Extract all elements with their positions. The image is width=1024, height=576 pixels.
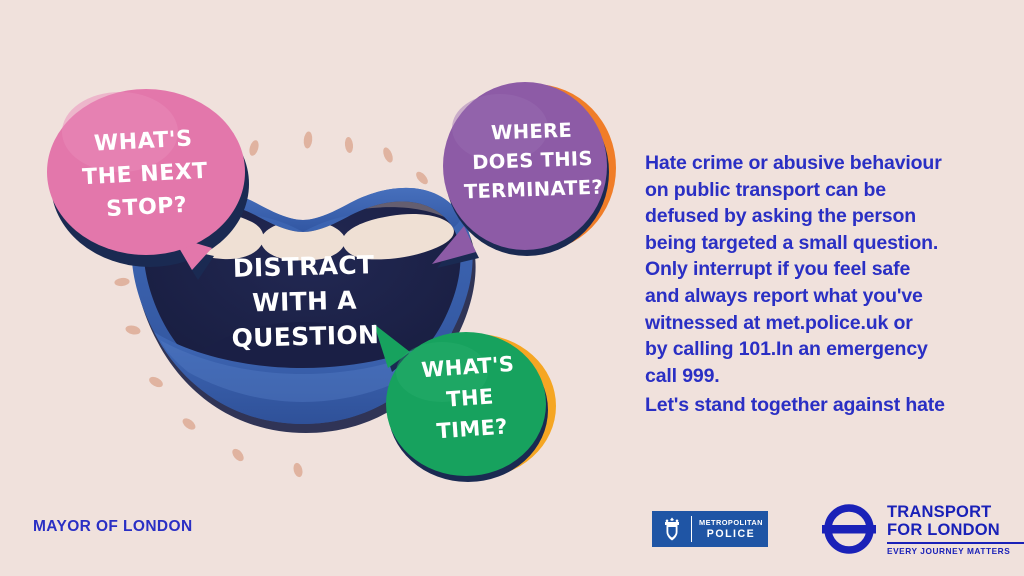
bubble-text-purple: WHERE DOES THIS TERMINATE? xyxy=(454,114,612,206)
tfl-wordmark: TRANSPORT FOR LONDON EVERY JOURNEY MATTE… xyxy=(887,503,1024,556)
tfl-roundel-icon xyxy=(820,503,878,555)
poster-canvas: WHAT'S THE NEXT STOP? WHERE DOES THIS TE… xyxy=(0,0,1024,576)
body-copy-tagline: Let's stand together against hate xyxy=(645,392,1005,419)
campaign-headline: DISTRACT WITH A QUESTION xyxy=(211,247,399,357)
tfl-line-1: TRANSPORT xyxy=(887,503,1024,521)
mayor-of-london-logo: MAYOR OF LONDON xyxy=(33,518,193,536)
met-crest-icon xyxy=(653,512,691,546)
body-copy-paragraph: Hate crime or abusive behaviour on publi… xyxy=(645,150,995,389)
tfl-line-2: FOR LONDON xyxy=(887,521,1024,539)
bubble-text-green: WHAT'S THE TIME? xyxy=(392,347,548,450)
met-line-1: METROPOLITAN xyxy=(699,518,763,527)
metropolitan-police-logo: METROPOLITAN POLICE xyxy=(652,511,768,547)
met-line-2: POLICE xyxy=(707,528,755,540)
tfl-rule xyxy=(887,542,1024,544)
met-wordmark: METROPOLITAN POLICE xyxy=(692,512,767,546)
tfl-strapline: EVERY JOURNEY MATTERS xyxy=(887,546,1024,556)
bubble-text-pink: WHAT'S THE NEXT STOP? xyxy=(58,121,233,229)
tfl-logo: TRANSPORT FOR LONDON EVERY JOURNEY MATTE… xyxy=(820,503,1024,555)
